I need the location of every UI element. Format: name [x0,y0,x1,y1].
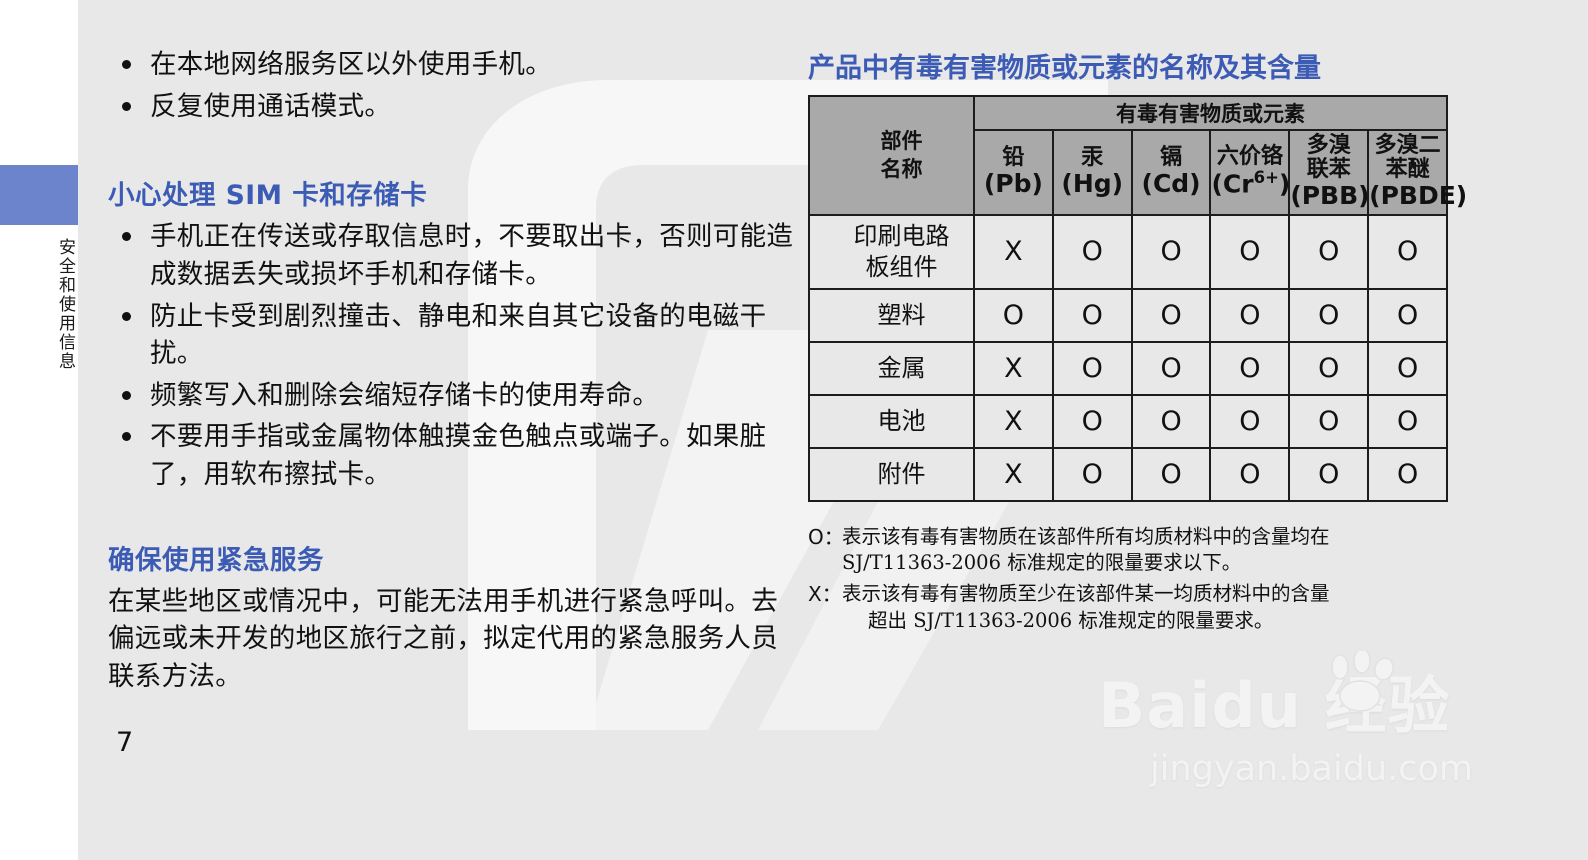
manual-page: 在本地网络服务区以外使用手机。 反复使用通话模式。 小心处理 SIM 卡和存储卡… [0,0,1588,860]
table-row: 电池 X O O O O O [809,395,1447,448]
list-item: 反复使用通话模式。 [108,88,798,126]
header-part-name-line1: 部件 [881,129,923,153]
header-col-pbb-en: (PBB) [1290,182,1367,209]
cell-plastic-pbde: O [1368,289,1447,342]
cell-pcb-hg: O [1053,215,1132,289]
list-item: 不要用手指或金属物体触摸金色触点或端子。如果脏了，用软布擦拭卡。 [108,418,798,493]
cell-pcb-cd: O [1132,215,1211,289]
header-col-pbde-en: (PBDE) [1369,182,1446,209]
cell-metal-cr: O [1210,342,1289,395]
header-col-cadmium: 镉 (Cd) [1132,130,1211,215]
row-label-metal: 金属 [809,342,974,395]
cell-accessory-pb: X [974,448,1053,501]
header-col-lead-zh: 铅 [975,146,1052,170]
cell-accessory-hg: O [1053,448,1132,501]
baidu-watermark-url: jingyan.baidu.com [1150,749,1528,789]
table-row: 附件 X O O O O O [809,448,1447,501]
footnote-x-line2: 超出 SJ/T11363-2006 标准规定的限量要求。 [842,608,1488,635]
cell-accessory-cd: O [1132,448,1211,501]
cell-battery-hg: O [1053,395,1132,448]
cell-battery-pbb: O [1289,395,1368,448]
list-item: 在本地网络服务区以外使用手机。 [108,46,798,84]
row-label-pcb-line1: 印刷电路 [854,222,950,250]
header-col-mercury: 汞 (Hg) [1053,130,1132,215]
list-item: 手机正在传送或存取信息时，不要取出卡，否则可能造成数据丢失或损坏手机和存储卡。 [108,218,798,293]
footnote-x-text: 表示该有毒有害物质至少在该部件某一均质材料中的含量 超出 SJ/T11363-2… [842,581,1488,635]
cell-metal-pbb: O [1289,342,1368,395]
cell-plastic-pb: O [974,289,1053,342]
header-col-pbde: 多溴二 苯醚 (PBDE) [1368,130,1447,215]
cell-plastic-pbb: O [1289,289,1368,342]
header-col-cadmium-zh: 镉 [1133,146,1210,170]
hazardous-substances-table: 部件 名称 有毒有害物质或元素 铅 (Pb) 汞 (Hg) [808,95,1448,502]
list-item: 防止卡受到剧烈撞击、静电和来自其它设备的电磁干扰。 [108,298,798,373]
header-part-name: 部件 名称 [809,96,974,215]
table-footnotes: O： 表示该有毒有害物质在该部件所有均质材料中的含量均在 SJ/T11363-2… [808,524,1488,636]
footnote-o-line1: 表示该有毒有害物质在该部件所有均质材料中的含量均在 [842,525,1330,548]
row-label-battery: 电池 [809,395,974,448]
header-col-pbb-zh1: 多溴 [1290,134,1367,158]
footnote-o-text: 表示该有毒有害物质在该部件所有均质材料中的含量均在 SJ/T11363-2006… [842,524,1488,578]
table-row: 塑料 O O O O O O [809,289,1447,342]
list-item: 频繁写入和删除会缩短存储卡的使用寿命。 [108,377,798,415]
header-col-chromium-en: (Cr6+) [1211,169,1288,197]
sidebar: 安全和使用信息 [0,0,78,860]
header-col-mercury-zh: 汞 [1054,146,1131,170]
cell-metal-pbde: O [1368,342,1447,395]
table-title: 产品中有毒有害物质或元素的名称及其含量 [808,46,1488,85]
cell-battery-cd: O [1132,395,1211,448]
header-col-chromium-zh: 六价铬 [1211,145,1288,169]
page-number: 7 [116,727,133,758]
cell-battery-pb: X [974,395,1053,448]
row-label-accessory: 附件 [809,448,974,501]
header-col-pbde-zh2: 苯醚 [1369,158,1446,182]
footnote-x-line1: 表示该有毒有害物质至少在该部件某一均质材料中的含量 [842,582,1330,605]
row-label-plastic: 塑料 [809,289,974,342]
cell-accessory-pbb: O [1289,448,1368,501]
header-col-lead: 铅 (Pb) [974,130,1053,215]
baidu-watermark-text: Baidu 经验 [1098,655,1528,745]
footnote-x-key: X： [808,581,842,635]
baidu-paw-icon [1326,651,1400,713]
cell-pcb-pb: X [974,215,1053,289]
sidebar-chapter-tab[interactable] [0,165,78,225]
cell-battery-pbde: O [1368,395,1447,448]
cell-pcb-pbb: O [1289,215,1368,289]
row-label-pcb: 印刷电路 板组件 [809,215,974,289]
cell-pcb-cr: O [1210,215,1289,289]
cell-metal-hg: O [1053,342,1132,395]
footnote-o-line2: SJ/T11363-2006 标准规定的限量要求以下。 [842,550,1488,577]
cell-plastic-hg: O [1053,289,1132,342]
cell-accessory-pbde: O [1368,448,1447,501]
table-header-row-group: 部件 名称 有毒有害物质或元素 [809,96,1447,130]
left-text-column: 在本地网络服务区以外使用手机。 反复使用通话模式。 小心处理 SIM 卡和存储卡… [108,46,798,696]
row-label-pcb-line2: 板组件 [866,253,938,281]
footnote-o: O： 表示该有毒有害物质在该部件所有均质材料中的含量均在 SJ/T11363-2… [808,524,1488,578]
table-row: 印刷电路 板组件 X O O O O O [809,215,1447,289]
header-col-pbb: 多溴 联苯 (PBB) [1289,130,1368,215]
header-col-pbb-zh2: 联苯 [1290,158,1367,182]
baidu-watermark: Baidu 经验 jingyan.baidu.com [1098,655,1528,805]
cell-accessory-cr: O [1210,448,1289,501]
sidebar-chapter-label: 安全和使用信息 [0,238,78,488]
header-col-mercury-en: (Hg) [1054,170,1131,197]
header-col-cadmium-en: (Cd) [1133,170,1210,197]
header-col-pbde-zh1: 多溴二 [1369,134,1446,158]
header-col-chromium: 六价铬 (Cr6+) [1210,130,1289,215]
right-table-column: 产品中有毒有害物质或元素的名称及其含量 部件 名称 有毒有害物质或元素 铅 (P… [808,46,1488,639]
cell-pcb-pbde: O [1368,215,1447,289]
section-heading-sim-card: 小心处理 SIM 卡和存储卡 [108,173,798,212]
section-heading-emergency: 确保使用紧急服务 [108,538,798,577]
footnote-o-key: O： [808,524,842,578]
emergency-paragraph: 在某些地区或情况中，可能无法用手机进行紧急呼叫。去偏远或未开发的地区旅行之前，拟… [108,583,798,696]
table-row: 金属 X O O O O O [809,342,1447,395]
footnote-x: X： 表示该有毒有害物质至少在该部件某一均质材料中的含量 超出 SJ/T1136… [808,581,1488,635]
header-col-lead-en: (Pb) [975,170,1052,197]
top-bullet-list: 在本地网络服务区以外使用手机。 反复使用通话模式。 [108,46,798,125]
cell-plastic-cd: O [1132,289,1211,342]
cell-plastic-cr: O [1210,289,1289,342]
sim-card-bullet-list: 手机正在传送或存取信息时，不要取出卡，否则可能造成数据丢失或损坏手机和存储卡。 … [108,218,798,493]
cell-metal-pb: X [974,342,1053,395]
cell-metal-cd: O [1132,342,1211,395]
header-group-substances: 有毒有害物质或元素 [974,96,1447,130]
page-content-area: 在本地网络服务区以外使用手机。 反复使用通话模式。 小心处理 SIM 卡和存储卡… [78,0,1588,860]
cell-battery-cr: O [1210,395,1289,448]
header-part-name-line2: 名称 [881,157,923,181]
